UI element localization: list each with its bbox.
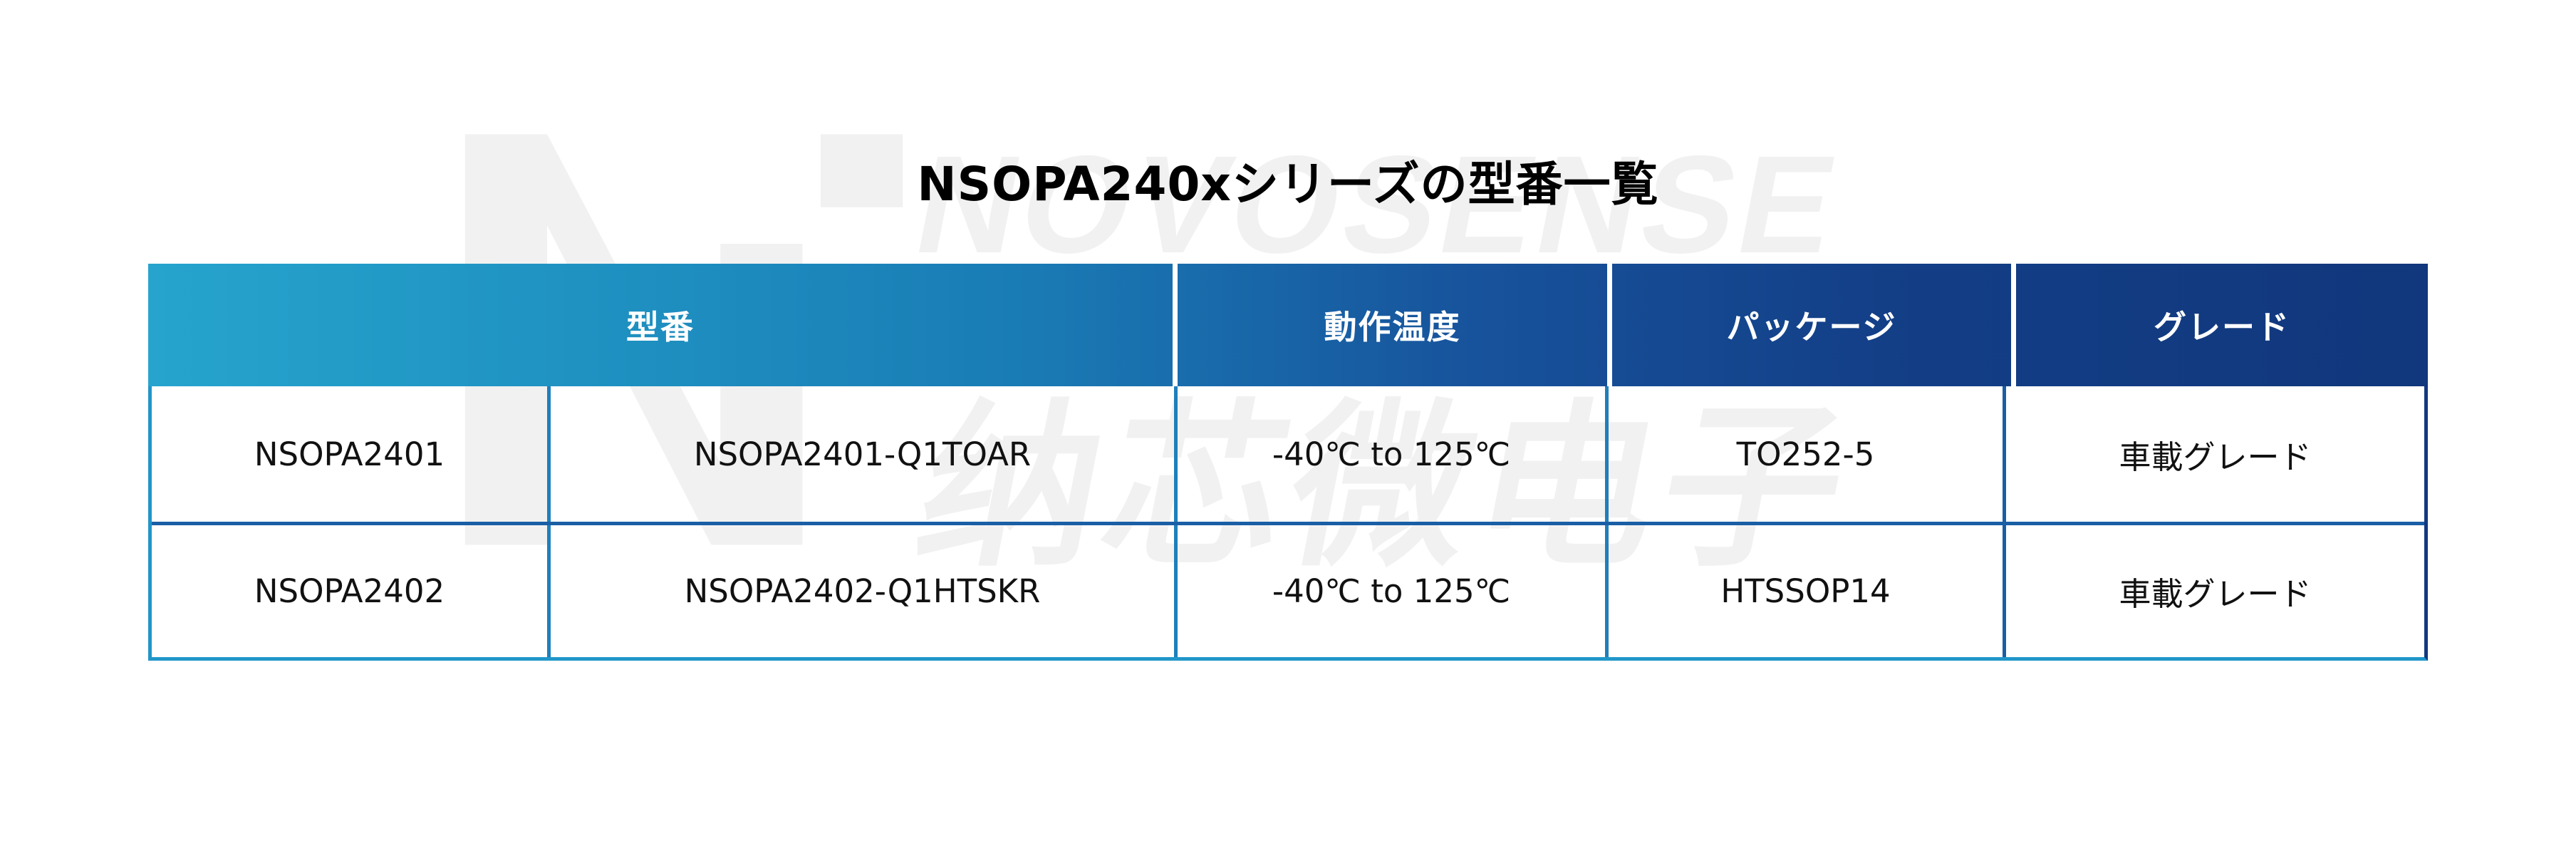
- table-row: NSOPA2401 NSOPA2401-Q1TOAR -40℃ to 125℃ …: [152, 386, 2424, 522]
- page-root: NOVOSENSE 纳芯微电子 NSOPA240xシリーズの型番一覧 型番 動作…: [0, 0, 2576, 841]
- page-title: NSOPA240xシリーズの型番一覧: [0, 146, 2576, 215]
- header-divider: [1173, 264, 1178, 386]
- cell-operating-temperature: -40℃ to 125℃: [1174, 386, 1605, 522]
- cell-part-number: NSOPA2402-Q1HTSKR: [547, 525, 1174, 657]
- column-header-package: パッケージ: [1612, 264, 2011, 386]
- cell-package: TO252-5: [1605, 386, 2003, 522]
- cell-part-number: NSOPA2401-Q1TOAR: [547, 386, 1174, 522]
- table-header-row: 型番 動作温度 パッケージ グレード: [148, 264, 2428, 386]
- cell-grade: 車載グレード: [2003, 386, 2424, 522]
- table-row: NSOPA2402 NSOPA2402-Q1HTSKR -40℃ to 125℃…: [152, 522, 2424, 657]
- column-header-part-number: 型番: [148, 264, 1173, 386]
- header-divider: [2011, 264, 2016, 386]
- cell-series: NSOPA2402: [152, 525, 547, 657]
- cell-series: NSOPA2401: [152, 386, 547, 522]
- part-number-table: 型番 動作温度 パッケージ グレード NSOPA2401 NSOPA2401-Q…: [148, 264, 2428, 661]
- cell-grade: 車載グレード: [2003, 525, 2424, 657]
- column-header-operating-temperature: 動作温度: [1178, 264, 1607, 386]
- header-divider: [1607, 264, 1612, 386]
- cell-package: HTSSOP14: [1605, 525, 2003, 657]
- table-body: NSOPA2401 NSOPA2401-Q1TOAR -40℃ to 125℃ …: [148, 386, 2428, 661]
- column-header-grade: グレード: [2016, 264, 2428, 386]
- cell-operating-temperature: -40℃ to 125℃: [1174, 525, 1605, 657]
